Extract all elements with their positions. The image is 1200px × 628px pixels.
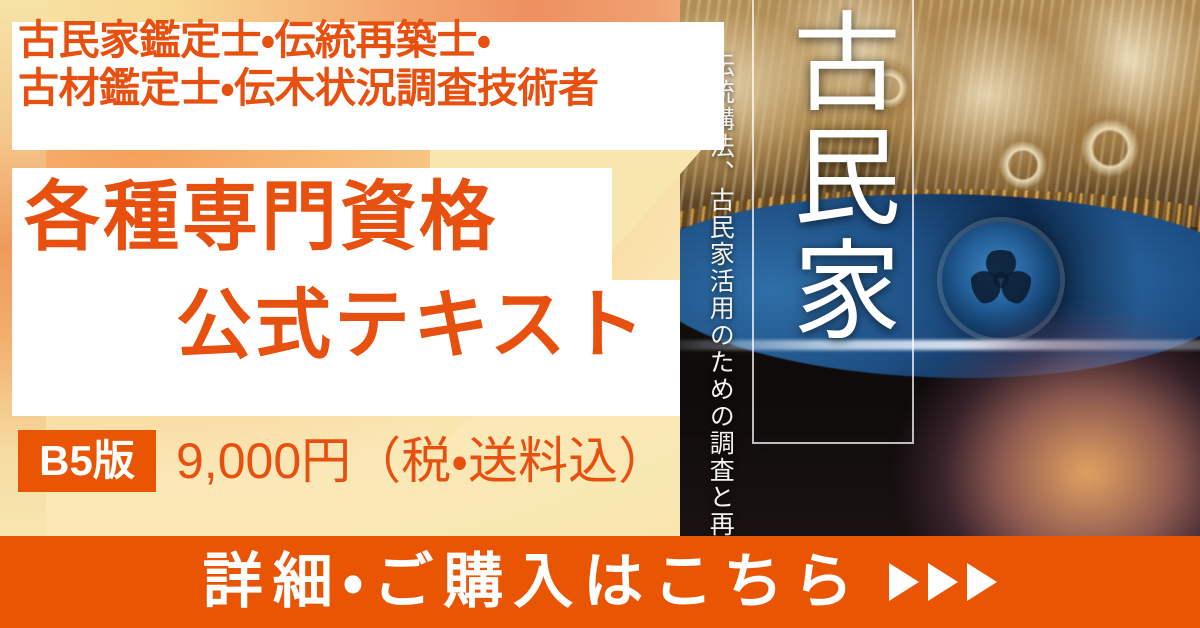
cta-arrows	[889, 563, 997, 601]
credentials-line-2: 古材鑑定士・伝木状況調査技術者	[18, 66, 718, 112]
cta-label: 詳細・ご購入はこちら	[203, 552, 863, 612]
credentials-line-1: 古民家鑑定士・伝統再築士・	[18, 18, 718, 64]
price-text: 9,000円（税・送料込）	[176, 430, 668, 492]
triangle-right-icon	[889, 563, 919, 601]
triangle-right-icon	[967, 563, 997, 601]
credentials-text: 古民家鑑定士・伝統再築士・ 古材鑑定士・伝木状況調査技術者	[18, 18, 718, 112]
promo-banner: 古民家 伝統構法、古民家活用のための調査と再生の 古民家鑑定士・伝統再築士・ 古…	[0, 0, 1200, 628]
triangle-right-icon	[928, 563, 958, 601]
book-cover-photo: 古民家 伝統構法、古民家活用のための調査と再生の	[680, 0, 1200, 540]
size-badge: B5版	[18, 430, 156, 492]
product-title-line-2: 公式テキスト	[176, 288, 648, 364]
product-title-line-1: 各種専門資格	[24, 180, 498, 256]
cover-title-text: 古民家	[760, 6, 902, 348]
cta-bar[interactable]: 詳細・ご購入はこちら	[0, 536, 1200, 628]
